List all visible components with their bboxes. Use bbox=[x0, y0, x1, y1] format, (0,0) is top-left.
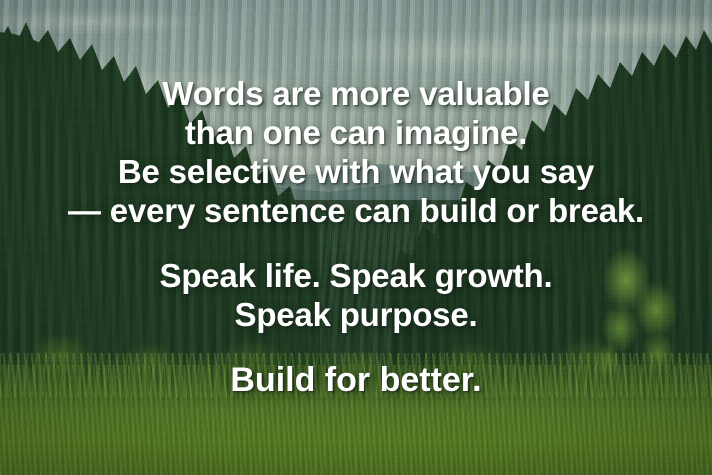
quote-line: — every sentence can build or break. bbox=[0, 191, 712, 230]
quote-line: than one can imagine. bbox=[0, 113, 712, 152]
quote-text-overlay: Words are more valuable than one can ima… bbox=[0, 0, 712, 475]
quote-line: Be selective with what you say bbox=[0, 152, 712, 191]
quote-stanza-2: Speak life. Speak growth. Speak purpose. bbox=[0, 256, 712, 334]
quote-closing-line: Build for better. bbox=[0, 361, 712, 400]
quote-line: Speak life. Speak growth. bbox=[0, 256, 712, 295]
quote-stanza-3: Build for better. bbox=[0, 361, 712, 400]
quote-line: Speak purpose. bbox=[0, 295, 712, 334]
quote-image-card: Words are more valuable than one can ima… bbox=[0, 0, 712, 475]
quote-stanza-1: Words are more valuable than one can ima… bbox=[0, 74, 712, 230]
quote-line: Words are more valuable bbox=[0, 74, 712, 113]
